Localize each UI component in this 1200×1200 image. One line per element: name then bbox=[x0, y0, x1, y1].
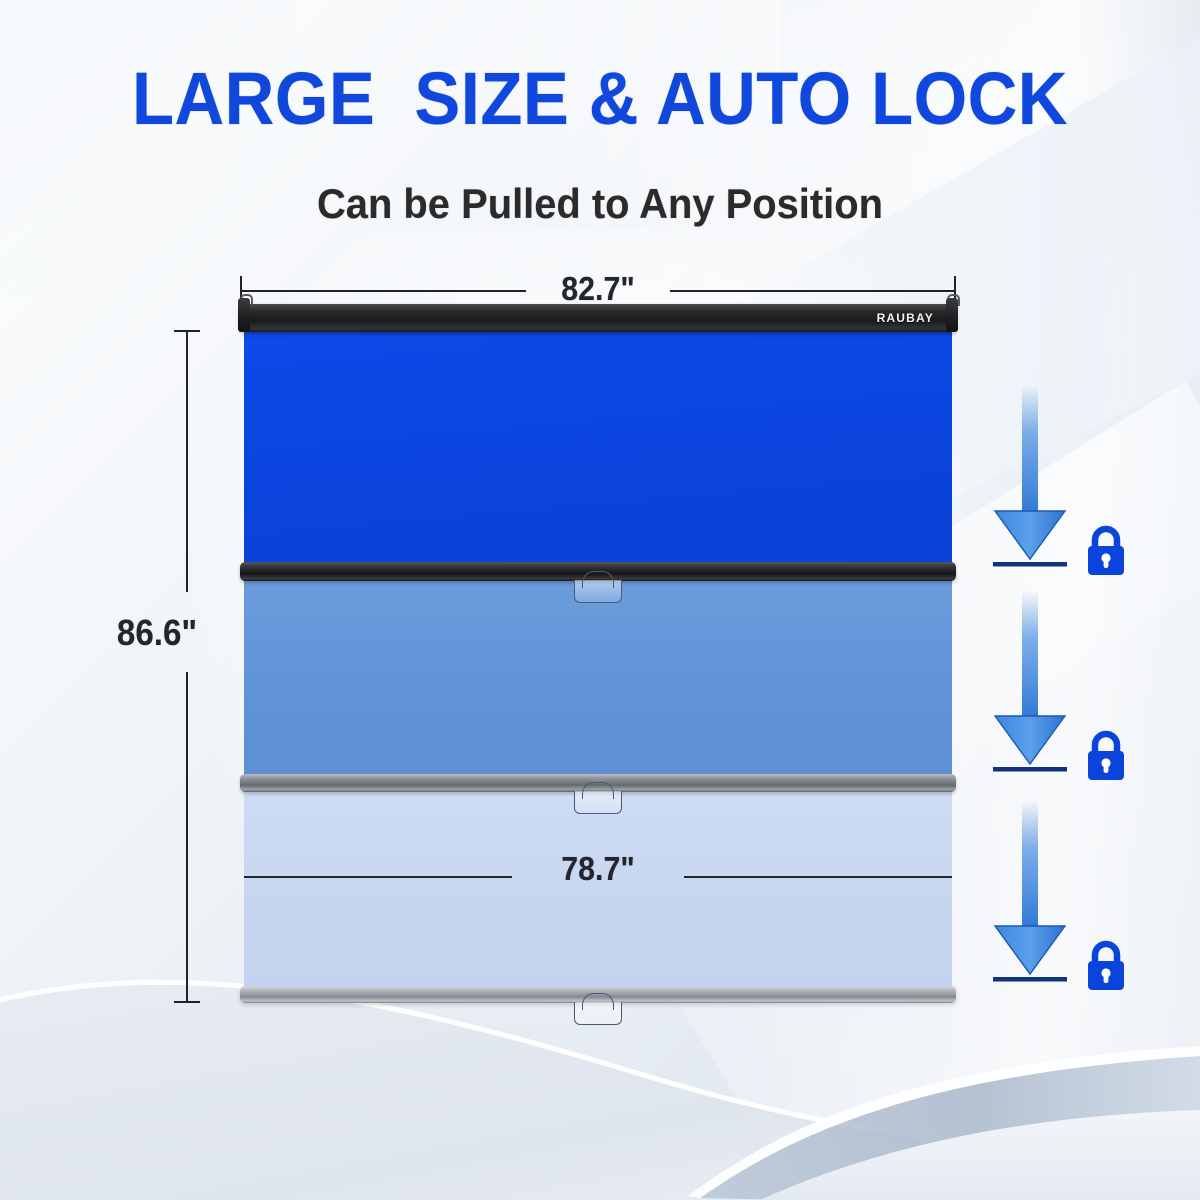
dimension-rule-upper bbox=[186, 330, 188, 592]
inner-dimension-rule-left bbox=[244, 876, 512, 878]
dimension-height-left: 86.6" bbox=[130, 320, 250, 1010]
projector-screen-assembly: RAUBAY bbox=[240, 292, 956, 1010]
lock-closed-icon bbox=[1083, 730, 1129, 782]
screen-panel-middle bbox=[244, 580, 952, 776]
head-bar-endcap-left bbox=[238, 298, 250, 332]
lock-closed-icon bbox=[1083, 940, 1129, 992]
inner-dimension-rule-right bbox=[684, 876, 952, 878]
down-arrow-icon bbox=[985, 385, 1075, 577]
head-bar-endcap-right bbox=[946, 298, 958, 332]
down-arrow-icon bbox=[985, 590, 1075, 782]
pull-handle-3[interactable] bbox=[574, 1002, 622, 1025]
lock-closed-icon bbox=[1083, 525, 1129, 577]
dimension-width-inner: 78.7" bbox=[244, 840, 952, 898]
infographic-canvas: LARGE SIZE & AUTO LOCK Can be Pulled to … bbox=[0, 0, 1200, 1200]
screen-panel-top bbox=[244, 330, 952, 562]
page-subtitle: Can be Pulled to Any Position bbox=[30, 183, 1170, 225]
pull-lock-indicator-row-1 bbox=[985, 385, 1155, 585]
pull-lock-indicator-row-2 bbox=[985, 590, 1155, 790]
dimension-rule-lower bbox=[186, 672, 188, 1002]
dimension-width-top: 82.7" bbox=[240, 268, 956, 270]
screen-head-bar: RAUBAY bbox=[240, 304, 956, 332]
pull-handle-1[interactable] bbox=[574, 580, 622, 603]
pull-handle-2[interactable] bbox=[574, 791, 622, 814]
dimension-label-height: 86.6" bbox=[79, 598, 235, 668]
page-title: LARGE SIZE & AUTO LOCK bbox=[42, 62, 1158, 136]
brand-logo-label: RAUBAY bbox=[877, 311, 934, 325]
corner-highlight-top-left bbox=[0, 0, 300, 300]
pull-lock-indicator-row-3 bbox=[985, 800, 1155, 1000]
dimension-label-width-inner: 78.7" bbox=[519, 848, 677, 890]
down-arrow-icon bbox=[985, 800, 1075, 992]
